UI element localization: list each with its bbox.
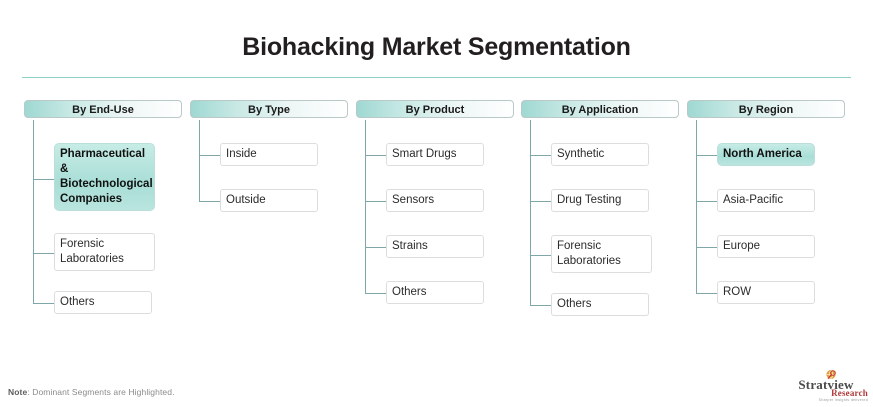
segment-item[interactable]: Outside bbox=[220, 189, 318, 212]
segment-column-0: By End-UsePharmaceutical & Biotechnologi… bbox=[24, 100, 182, 118]
segment-item[interactable]: Forensic Laboratories bbox=[551, 235, 652, 273]
segment-item[interactable]: ROW bbox=[717, 281, 815, 304]
tree-branch-line bbox=[33, 179, 54, 180]
tree-branch-line bbox=[365, 293, 386, 294]
tree-branch-line bbox=[33, 303, 54, 304]
segment-item[interactable]: Others bbox=[551, 293, 649, 316]
segment-item[interactable]: Europe bbox=[717, 235, 815, 258]
tree-trunk-line bbox=[365, 120, 366, 293]
tree-branch-line bbox=[696, 247, 717, 248]
segment-column-1: By TypeInsideOutside bbox=[190, 100, 348, 118]
segmentation-tree: By End-UsePharmaceutical & Biotechnologi… bbox=[0, 100, 873, 340]
tree-branch-line bbox=[530, 255, 551, 256]
footnote-text: : Dominant Segments are Highlighted. bbox=[27, 387, 174, 397]
logo-subword: Research bbox=[784, 388, 868, 398]
tree-branch-line bbox=[530, 155, 551, 156]
tree-branch-line bbox=[530, 201, 551, 202]
tree-branch-line bbox=[696, 293, 717, 294]
segment-item[interactable]: Others bbox=[386, 281, 484, 304]
tree-branch-line bbox=[530, 305, 551, 306]
segment-column-4: By RegionNorth AmericaAsia-PacificEurope… bbox=[687, 100, 845, 118]
tree-trunk-line bbox=[696, 120, 697, 293]
column-header[interactable]: By Application bbox=[521, 100, 679, 118]
segment-item-highlighted[interactable]: Pharmaceutical & Biotechnological Compan… bbox=[54, 143, 155, 211]
segment-item[interactable]: Asia-Pacific bbox=[717, 189, 815, 212]
logo-tagline: Sharper insights delivered bbox=[784, 398, 868, 402]
column-header[interactable]: By End-Use bbox=[24, 100, 182, 118]
segment-column-2: By ProductSmart DrugsSensorsStrainsOther… bbox=[356, 100, 514, 118]
page-title: Biohacking Market Segmentation bbox=[0, 33, 873, 62]
segment-item-highlighted[interactable]: North America bbox=[717, 143, 815, 166]
tree-branch-line bbox=[199, 201, 220, 202]
segment-item[interactable]: Sensors bbox=[386, 189, 484, 212]
segment-item[interactable]: Inside bbox=[220, 143, 318, 166]
tree-trunk-line bbox=[33, 120, 34, 303]
tree-branch-line bbox=[365, 201, 386, 202]
segment-item[interactable]: Others bbox=[54, 291, 152, 314]
tree-branch-line bbox=[365, 155, 386, 156]
tree-trunk-line bbox=[199, 120, 200, 201]
tree-branch-line bbox=[365, 247, 386, 248]
column-header[interactable]: By Type bbox=[190, 100, 348, 118]
column-header[interactable]: By Product bbox=[356, 100, 514, 118]
tree-branch-line bbox=[696, 155, 717, 156]
segment-item[interactable]: Synthetic bbox=[551, 143, 649, 166]
tree-branch-line bbox=[199, 155, 220, 156]
column-header[interactable]: By Region bbox=[687, 100, 845, 118]
title-divider bbox=[22, 77, 851, 78]
segment-item[interactable]: Strains bbox=[386, 235, 484, 258]
segment-item[interactable]: Smart Drugs bbox=[386, 143, 484, 166]
segment-column-3: By ApplicationSyntheticDrug TestingForen… bbox=[521, 100, 679, 118]
tree-branch-line bbox=[696, 201, 717, 202]
segment-item[interactable]: Drug Testing bbox=[551, 189, 649, 212]
footnote: Note: Dominant Segments are Highlighted. bbox=[8, 387, 175, 397]
tree-branch-line bbox=[33, 253, 54, 254]
stratview-research-logo: Stratview Research Sharper insights deli… bbox=[784, 369, 868, 402]
tree-trunk-line bbox=[530, 120, 531, 305]
segment-item[interactable]: Forensic Laboratories bbox=[54, 233, 155, 271]
footnote-label: Note bbox=[8, 387, 27, 397]
